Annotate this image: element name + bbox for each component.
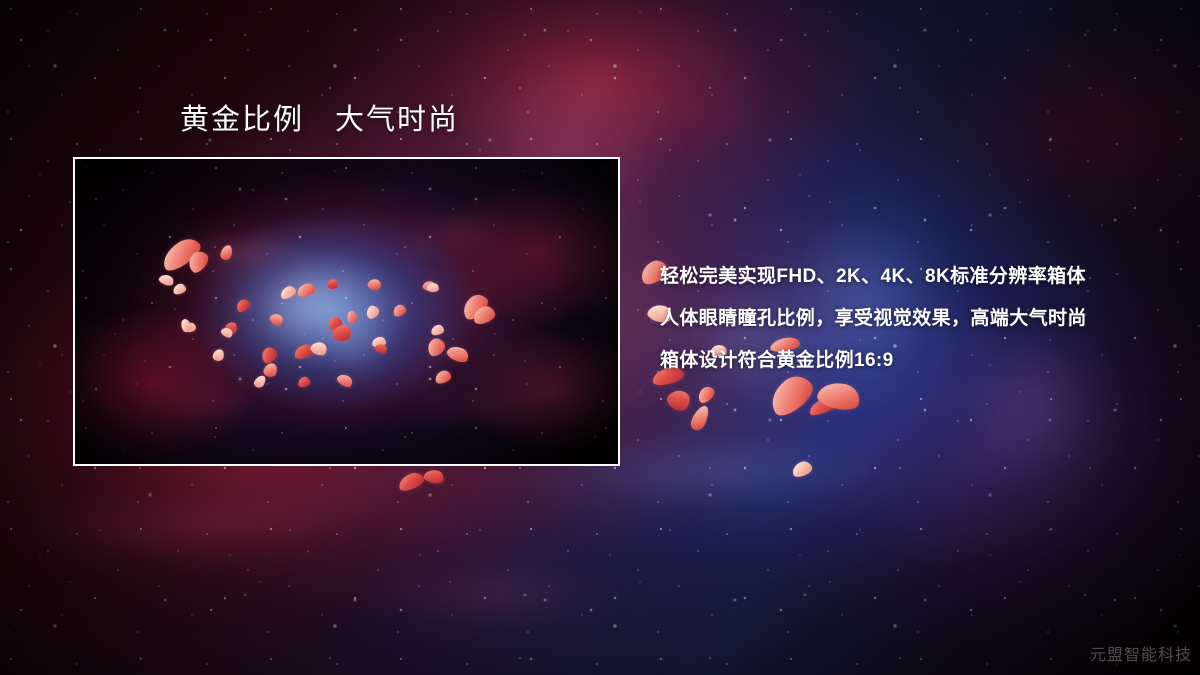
watermark-label: 元盟智能科技 xyxy=(1090,641,1192,665)
body-line-3: 箱体设计符合黄金比例16:9 xyxy=(660,340,1180,382)
petal-decoration xyxy=(807,392,844,418)
petal-decoration xyxy=(664,385,694,414)
petal-decoration xyxy=(423,468,446,485)
petal-decoration xyxy=(695,384,717,406)
body-line-1: 轻松完美实现FHD、2K、4K、8K标准分辨率箱体 xyxy=(660,256,1180,298)
petal-decoration xyxy=(396,470,426,493)
body-text-block: 轻松完美实现FHD、2K、4K、8K标准分辨率箱体 人体眼睛瞳孔比例，享受视觉效… xyxy=(660,256,1180,382)
image-frame-panel xyxy=(73,157,620,466)
presentation-slide: 黄金比例 大气时尚 轻松完美实现FHD、2K、4K、8K标准分辨率箱体 人体眼睛… xyxy=(0,0,1200,675)
panel-vignette xyxy=(75,159,618,464)
petal-decoration xyxy=(815,378,862,413)
petal-decoration xyxy=(790,459,813,478)
petal-decoration xyxy=(689,403,712,432)
page-title: 黄金比例 大气时尚 xyxy=(180,103,459,138)
body-line-2: 人体眼睛瞳孔比例，享受视觉效果，高端大气时尚 xyxy=(660,298,1180,340)
